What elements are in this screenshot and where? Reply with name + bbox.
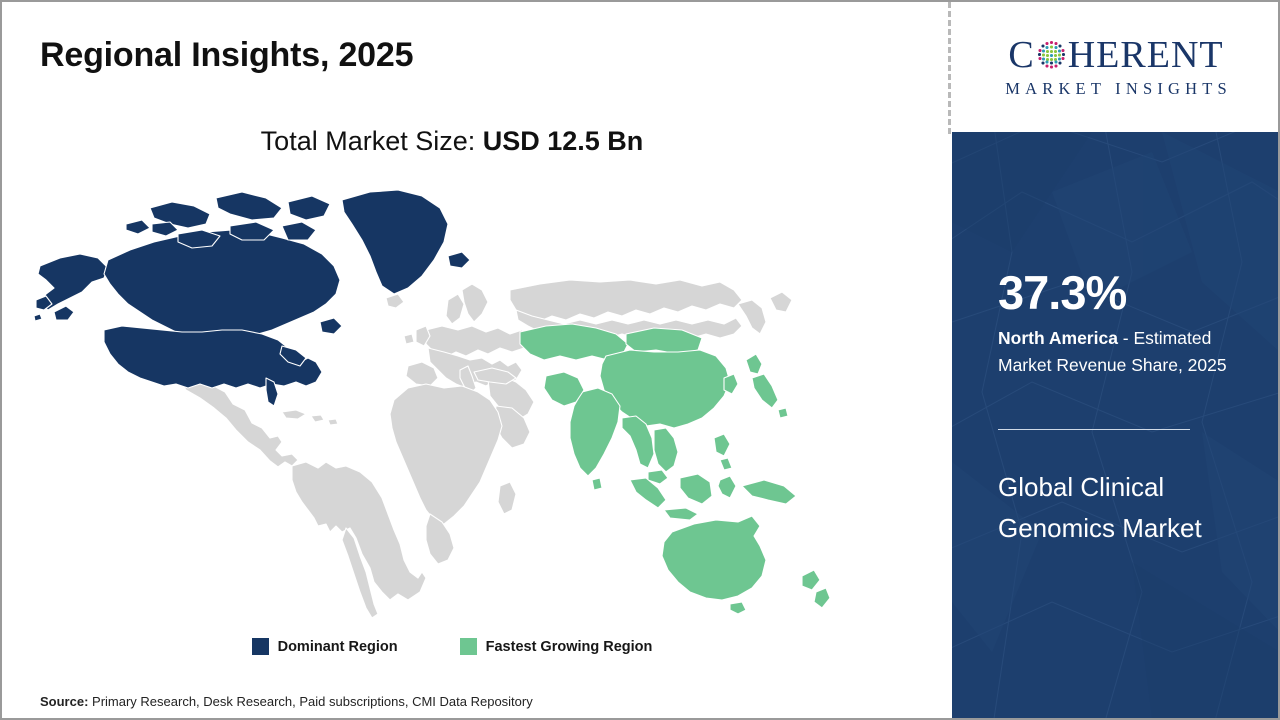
world-map-svg (30, 180, 830, 620)
share-value: 37.3% (998, 269, 1126, 316)
stat-panel-content: 37.3% North America - Estimated Market R… (952, 132, 1280, 718)
total-market-size-value: USD 12.5 Bn (483, 126, 644, 156)
source-label: Source: (40, 694, 88, 709)
legend-swatch-fastest (460, 638, 477, 655)
page-title: Regional Insights, 2025 (40, 36, 413, 75)
globe-dots-icon (1036, 39, 1067, 70)
logo-tagline: MARKET INSIGHTS (1000, 79, 1232, 99)
legend-item-dominant: Dominant Region (252, 638, 398, 655)
panel-divider-rule (998, 429, 1190, 430)
infographic-slide: Regional Insights, 2025 Total Market Siz… (0, 0, 1280, 720)
total-market-size-label: Total Market Size: (261, 126, 483, 156)
legend-label-dominant: Dominant Region (278, 639, 398, 655)
share-description: North America - Estimated Market Revenue… (998, 325, 1266, 378)
map-region-fastest (520, 324, 830, 614)
brand-logo: C (952, 2, 1280, 132)
panel-divider (948, 2, 951, 134)
side-panel: C (952, 2, 1280, 718)
source-note: Source: Primary Research, Desk Research,… (40, 694, 533, 709)
map-panel: Regional Insights, 2025 Total Market Siz… (2, 2, 950, 718)
map-region-dominant (34, 190, 470, 406)
source-text: Primary Research, Desk Research, Paid su… (88, 694, 532, 709)
legend-item-fastest: Fastest Growing Region (460, 638, 653, 655)
legend-label-fastest: Fastest Growing Region (486, 639, 653, 655)
world-map-container (30, 180, 830, 620)
share-region-name: North America (998, 328, 1118, 348)
legend-swatch-dominant (252, 638, 269, 655)
map-legend: Dominant Region Fastest Growing Region (2, 638, 902, 655)
market-title: Global Clinical Genomics Market (998, 467, 1248, 549)
logo-word-right: HERENT (1068, 36, 1224, 74)
total-market-size: Total Market Size: USD 12.5 Bn (2, 126, 902, 157)
logo-wordmark: C (1008, 36, 1223, 74)
stat-panel: 37.3% North America - Estimated Market R… (952, 132, 1280, 718)
logo-word-left: C (1008, 36, 1034, 74)
